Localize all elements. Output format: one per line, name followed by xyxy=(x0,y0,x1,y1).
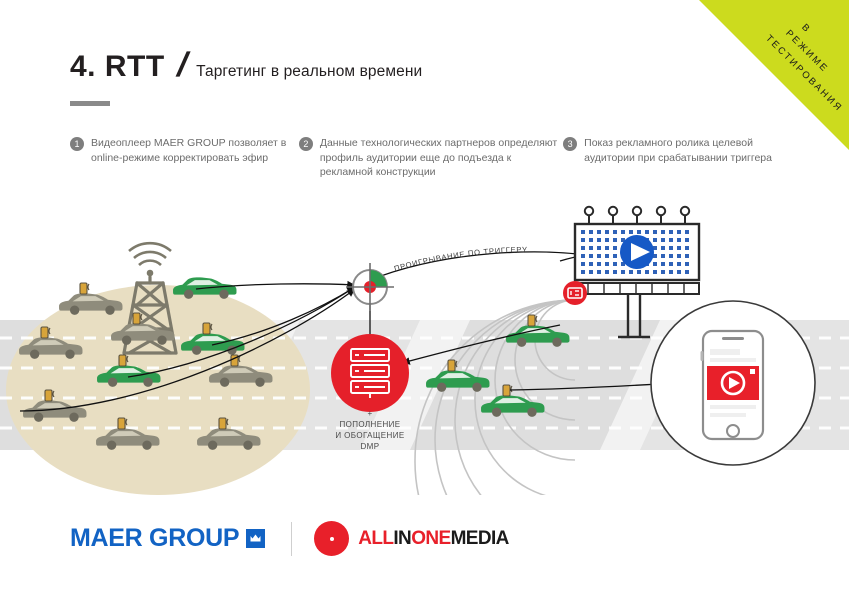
page-subtitle: Таргетинг в реальном времени xyxy=(196,63,422,81)
bullet-item: 3 Показ рекламного ролика целевой аудито… xyxy=(563,136,790,180)
smartphone-showcase xyxy=(651,301,815,465)
aiom-record-icon xyxy=(314,521,349,556)
ribbon-text-group: В РЕЖИМЕ ТЕСТИРОВАНИЯ xyxy=(699,0,849,150)
dmp-label-line3: DMP xyxy=(295,441,445,452)
bullet-text: Видеоплеер MAER GROUP позволяет в online… xyxy=(91,136,299,165)
dmp-label: + ПОПОЛНЕНИЕ И ОБОГАЩЕНИЕ DMP xyxy=(295,408,445,452)
slide-header: 4. RTT / Таргетинг в реальном времени xyxy=(70,46,422,106)
bullet-item: 2 Данные технологических партнеров опред… xyxy=(299,136,563,180)
allinonemedia-logo: ALLINONEMEDIA xyxy=(314,521,509,556)
testing-mode-ribbon: В РЕЖИМЕ ТЕСТИРОВАНИЯ xyxy=(699,0,849,150)
trigger-label: ПРОИГРЫВАНИЕ ПО ТРИГГЕРУ xyxy=(393,245,528,273)
aiom-part-media: MEDIA xyxy=(451,528,509,549)
bullet-list: 1 Видеоплеер MAER GROUP позволяет в onli… xyxy=(70,136,790,180)
dmp-label-line1: ПОПОЛНЕНИЕ xyxy=(295,419,445,430)
dmp-node xyxy=(331,334,409,412)
trigger-sensor-icon xyxy=(563,281,587,305)
slide-canvas: В РЕЖИМЕ ТЕСТИРОВАНИЯ 4. RTT / Таргетинг… xyxy=(0,0,849,600)
bullet-number: 1 xyxy=(70,137,84,151)
bullet-item: 1 Видеоплеер MAER GROUP позволяет в onli… xyxy=(70,136,299,180)
crosshair-target-icon xyxy=(346,263,394,311)
maer-group-label: MAER GROUP xyxy=(70,524,239,553)
bullet-number: 2 xyxy=(299,137,313,151)
title-slash: / xyxy=(173,46,192,85)
title-underline xyxy=(70,101,110,106)
play-button-icon[interactable] xyxy=(620,235,654,269)
dmp-label-plus: + xyxy=(295,408,445,419)
aiom-part-one: ONE xyxy=(411,528,450,549)
dmp-label-line2: И ОБОГАЩЕНИЕ xyxy=(295,430,445,441)
infographic-scene: ПРОИГРЫВАНИЕ ПО ТРИГГЕРУ xyxy=(0,205,849,495)
aiom-part-in: IN xyxy=(393,528,411,549)
crown-badge-icon xyxy=(246,529,265,548)
page-title: 4. RTT xyxy=(70,50,165,84)
smartphone-icon xyxy=(701,331,764,439)
bullet-number: 3 xyxy=(563,137,577,151)
footer-divider xyxy=(291,522,292,556)
maer-group-logo: MAER GROUP xyxy=(70,524,265,553)
aiom-part-all: ALL xyxy=(358,528,393,549)
title-row: 4. RTT / Таргетинг в реальном времени xyxy=(70,46,422,85)
led-billboard-icon xyxy=(575,207,699,337)
bullet-text: Показ рекламного ролика целевой аудитори… xyxy=(584,136,790,165)
bullet-text: Данные технологических партнеров определ… xyxy=(320,136,563,180)
ribbon-line-1: В xyxy=(799,22,813,36)
dmp-circle xyxy=(331,334,409,412)
footer-logos: MAER GROUP ALLINONEMEDIA xyxy=(70,521,509,556)
aiom-label: ALLINONEMEDIA xyxy=(358,528,509,550)
